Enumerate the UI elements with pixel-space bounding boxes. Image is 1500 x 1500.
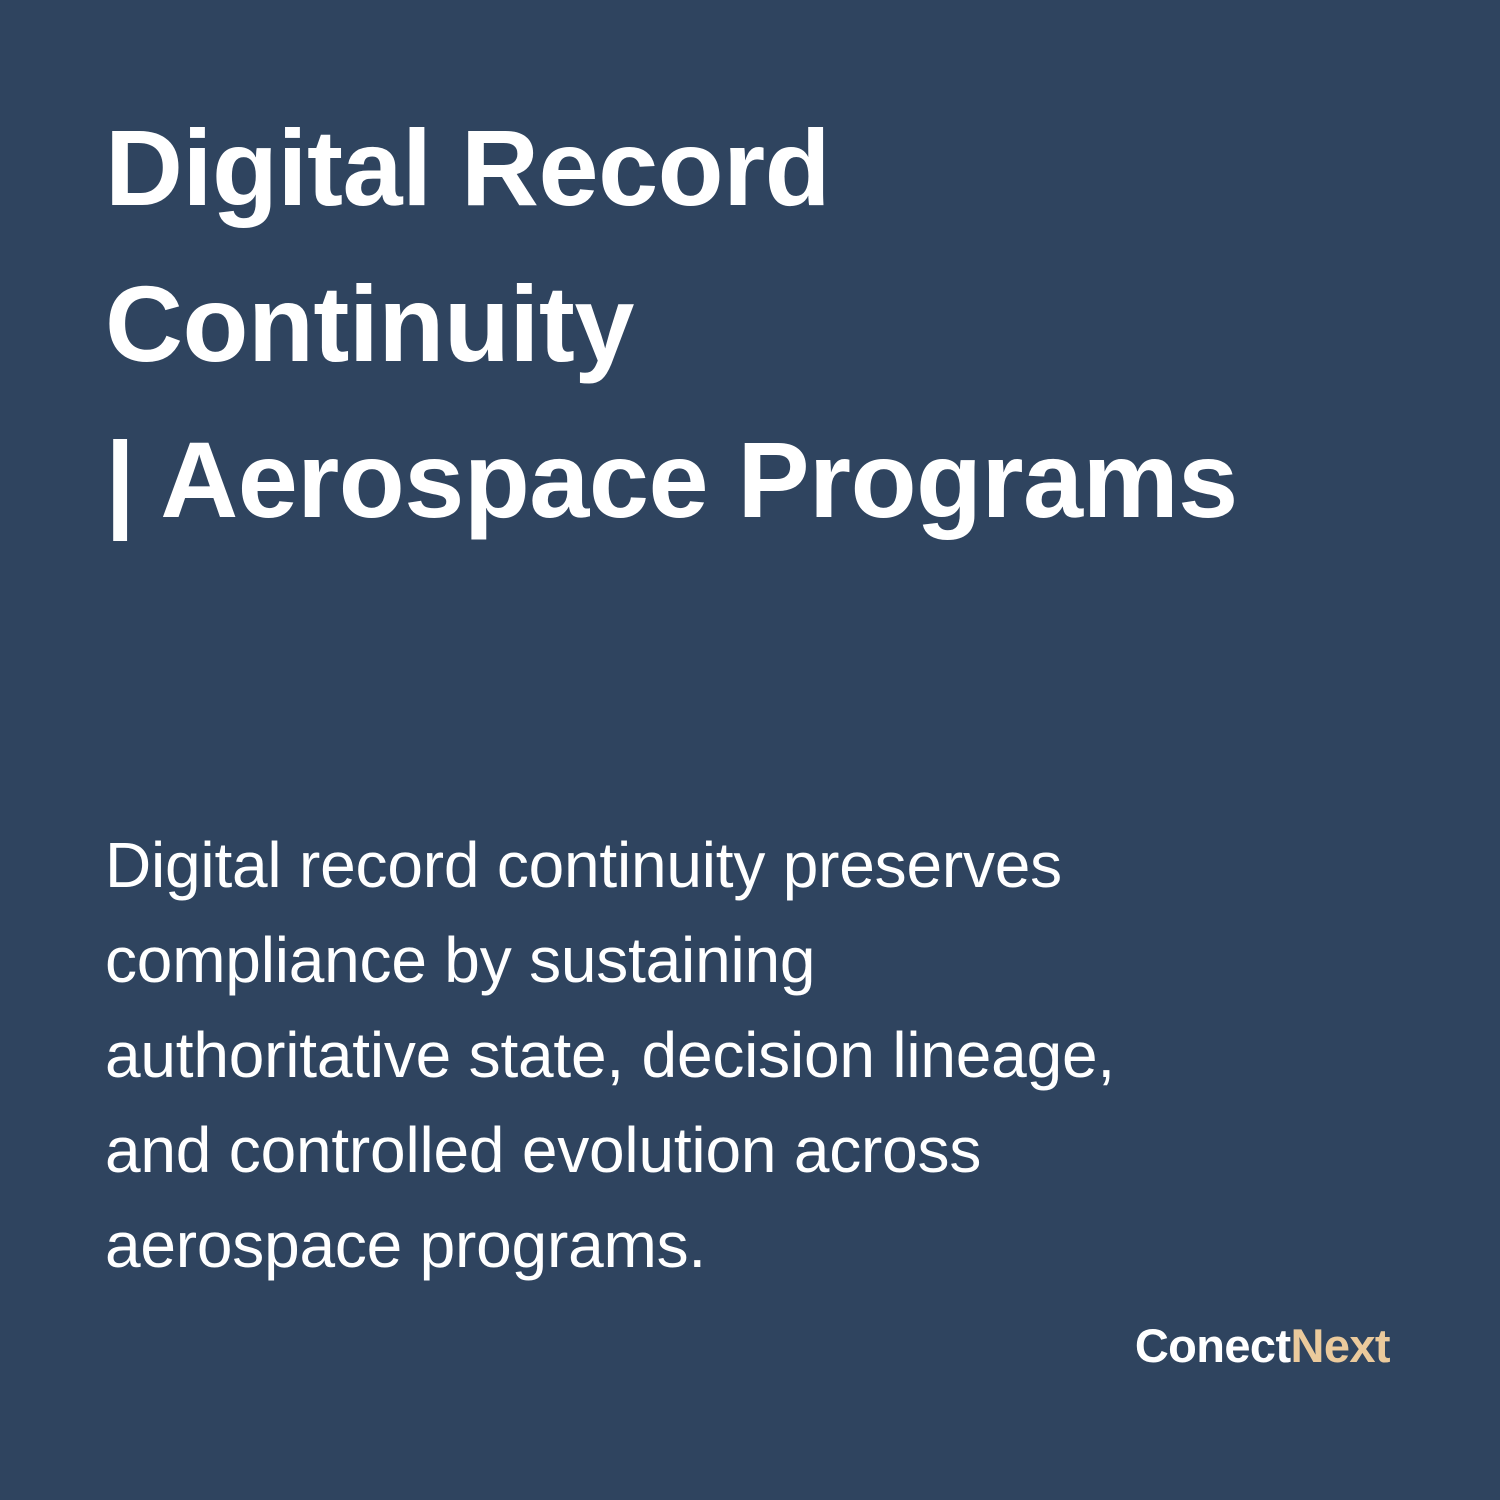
summary-line-1: Digital record continuity preserves [105, 818, 1375, 913]
brand-name-accent: Next [1291, 1322, 1390, 1369]
brand-name-primary: Conect [1135, 1322, 1291, 1369]
summary-paragraph: Digital record continuity preserves comp… [105, 818, 1375, 1293]
summary-line-4: and controlled evolution across [105, 1103, 1375, 1198]
brand-logo: ConectNext [1135, 1322, 1390, 1369]
summary-line-2: compliance by sustaining [105, 913, 1375, 1008]
headline-line-2: Continuity [105, 246, 1405, 402]
promo-card: Digital Record Continuity | Aerospace Pr… [0, 0, 1500, 1500]
summary-line-3: authoritative state, decision lineage, [105, 1008, 1375, 1103]
page-title: Digital Record Continuity | Aerospace Pr… [105, 90, 1405, 558]
headline-line-1: Digital Record [105, 90, 1405, 246]
summary-line-5: aerospace programs. [105, 1198, 1375, 1293]
headline-line-3: | Aerospace Programs [105, 402, 1405, 558]
